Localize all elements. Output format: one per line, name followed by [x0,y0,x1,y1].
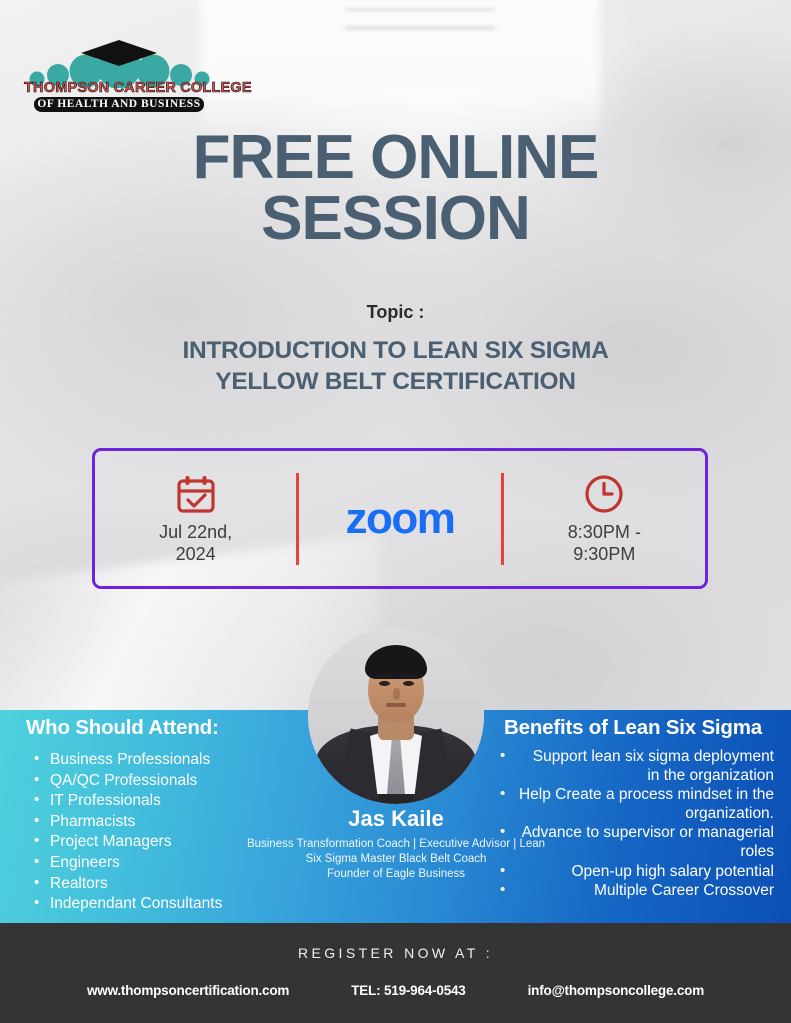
calendar-check-icon [174,472,218,516]
topic-title: INTRODUCTION TO LEAN SIX SIGMA YELLOW BE… [0,336,791,397]
list-item: Multiple Career Crossover [492,882,774,901]
topic-title-line-1: INTRODUCTION TO LEAN SIX SIGMA [182,337,608,364]
who-should-attend-heading: Who Should Attend: [26,716,316,740]
contact-row: www.thompsoncertification.com TEL: 519-9… [0,983,791,998]
topic-label: Topic : [0,302,791,323]
speaker-name: Jas Kaile [246,806,546,832]
poster-canvas: THOMPSON CAREER COLLEGE OF HEALTH AND BU… [0,0,791,1023]
background-paper-text [345,8,495,48]
college-logo: THOMPSON CAREER COLLEGE OF HEALTH AND BU… [24,26,214,110]
list-item: Support lean six sigma deployment in the… [492,748,774,785]
session-details-box: Jul 22nd, 2024 zoom 8:30PM - 9:30PM [92,448,708,589]
zoom-logo: zoom [346,494,455,544]
speaker-portrait [308,628,484,804]
session-date: Jul 22nd, 2024 [159,522,232,566]
benefits-heading: Benefits of Lean Six Sigma [492,716,774,740]
list-item: Independant Consultants [26,894,316,915]
session-platform-cell: zoom [299,451,500,586]
headline-line-1: FREE ONLINE [193,123,599,192]
footer: REGISTER NOW AT : www.thompsoncertificat… [0,923,791,1023]
register-label: REGISTER NOW AT : [0,945,791,961]
list-item: Business Professionals [26,750,316,771]
topic-title-line-2: YELLOW BELT CERTIFICATION [0,367,791,398]
logo-line-2: OF HEALTH AND BUSINESS [34,97,204,112]
clock-icon [582,472,626,516]
speaker-founder: Founder of Eagle Business [246,867,546,882]
page-title: FREE ONLINE SESSION [0,128,791,250]
session-time-cell: 8:30PM - 9:30PM [504,451,705,586]
phone-number[interactable]: TEL: 519-964-0543 [351,983,465,998]
speaker-info: Jas Kaile Business Transformation Coach … [246,806,546,883]
session-time: 8:30PM - 9:30PM [568,522,641,566]
avatar [308,628,484,804]
speaker-role: Business Transformation Coach | Executiv… [246,837,546,867]
list-item: QA/QC Professionals [26,771,316,792]
website-link[interactable]: www.thompsoncertification.com [87,983,289,998]
headline-line-2: SESSION [0,189,791,250]
session-date-cell: Jul 22nd, 2024 [95,451,296,586]
logo-line-1: THOMPSON CAREER COLLEGE [24,80,214,96]
email-link[interactable]: info@thompsoncollege.com [528,983,704,998]
